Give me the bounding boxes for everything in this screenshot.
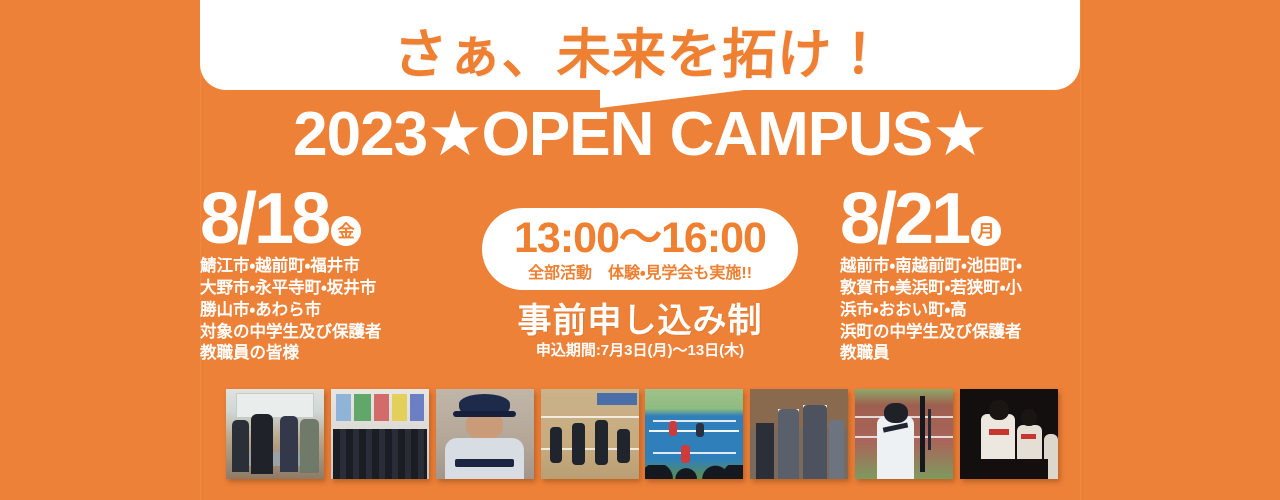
photo-dance-performance-stage	[960, 389, 1058, 479]
region-line: 敦賀市・美浜町・若狭町・小	[840, 278, 1080, 300]
photo-home-economics-cooking-class	[226, 389, 324, 479]
speech-bubble-text: さぁ、未来を拓け！	[392, 28, 888, 82]
sessions-row: 8/18 金 鯖江市・越前町・福井市 大野市・永平寺町・坂井市 勝山市・あわら市…	[200, 186, 1080, 381]
region-line: 浜町の中学生及び保護者	[840, 322, 1080, 344]
time-pill: 13:00〜16:00 全部活動 体験・見学会も実施!!	[482, 208, 798, 290]
photo-art-club-exhibition-group	[331, 389, 429, 479]
event-time: 13:00〜16:00	[514, 217, 766, 260]
photo-baseball-player-sabae	[436, 389, 534, 479]
region-line: 鯖江市・越前町・福井市	[200, 256, 440, 278]
session-right-date: 8/21	[840, 186, 968, 252]
application-heading: 事前申し込み制	[470, 304, 810, 338]
photo-archery-bow-track	[855, 389, 953, 479]
region-line: 教職員	[840, 343, 1080, 365]
page-title: 2023★OPEN CAMPUS★	[0, 104, 1280, 166]
region-line: 越前市・南越前町・池田町・	[840, 256, 1080, 278]
region-line: 対象の中学生及び保護者	[200, 322, 440, 344]
session-left-date: 8/18	[200, 186, 328, 252]
speech-bubble: さぁ、未来を拓け！	[200, 0, 1080, 90]
region-line: 勝山市・あわら市	[200, 300, 440, 322]
session-right: 8/21 月 越前市・南越前町・池田町・ 敦賀市・美浜町・若狭町・小 浜市・おお…	[840, 186, 1080, 365]
application-period: 申込期間:7月3日(月)〜13日(木)	[470, 343, 810, 358]
region-line: 大野市・永平寺町・坂井市	[200, 278, 440, 300]
photo-strip	[226, 389, 1058, 481]
photo-volleyball-gym-practice	[541, 389, 639, 479]
event-time-note: 全部活動 体験・見学会も実施!!	[528, 266, 752, 282]
open-campus-banner: さぁ、未来を拓け！ 2023★OPEN CAMPUS★ 8/18 金 鯖江市・越…	[0, 0, 1280, 500]
session-left-date-line: 8/18 金	[200, 186, 440, 252]
region-line: 教職員の皆様	[200, 343, 440, 365]
photo-tennis-court-practice	[645, 389, 743, 479]
session-right-date-line: 8/21 月	[840, 186, 1080, 252]
session-left: 8/18 金 鯖江市・越前町・福井市 大野市・永平寺町・坂井市 勝山市・あわら市…	[200, 186, 440, 365]
session-left-day-badge: 金	[331, 216, 361, 246]
region-line: 浜市・おおい町・高	[840, 300, 1080, 322]
session-left-regions: 鯖江市・越前町・福井市 大野市・永平寺町・坂井市 勝山市・あわら市 対象の中学生…	[200, 256, 440, 365]
session-right-regions: 越前市・南越前町・池田町・ 敦賀市・美浜町・若狭町・小 浜市・おおい町・高 浜町…	[840, 256, 1080, 365]
session-right-day-badge: 月	[971, 216, 1001, 246]
content-column-right-edge	[1080, 0, 1081, 500]
session-center-info: 13:00〜16:00 全部活動 体験・見学会も実施!! 事前申し込み制 申込期…	[470, 186, 810, 358]
photo-kyudo-archery-hakama	[750, 389, 848, 479]
